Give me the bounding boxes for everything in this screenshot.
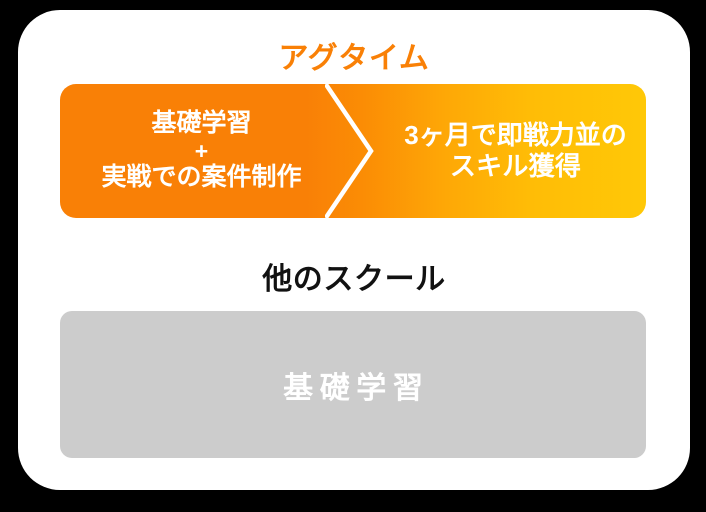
- agtime-banner: 基礎学習 + 実戦での案件制作 3ヶ月で即戦力並の スキル獲得: [60, 84, 646, 218]
- comparison-card: アグタイム 基礎学習 + 実戦での案件制作 3ヶ月で即戦力並の スキル獲得 他の…: [18, 10, 690, 490]
- banner-right-line2: スキル獲得: [450, 151, 581, 182]
- banner-left-line1: 基礎学習: [151, 109, 251, 139]
- banner-right-line1: 3ヶ月で即戦力並の: [404, 120, 626, 151]
- banner-left-line3: 実戦での案件制作: [101, 163, 301, 193]
- brand-heading: アグタイム: [18, 33, 690, 77]
- banner-right-section: 3ヶ月で即戦力並の スキル獲得: [385, 84, 646, 218]
- other-school-heading: 他のスクール: [18, 254, 690, 298]
- screenshot-root: アグタイム 基礎学習 + 実戦での案件制作 3ヶ月で即戦力並の スキル獲得 他の…: [0, 0, 706, 512]
- other-school-box: 基礎学習: [60, 311, 646, 458]
- banner-left-line2: +: [195, 139, 208, 163]
- banner-left-section: 基礎学習 + 実戦での案件制作: [60, 84, 343, 218]
- other-school-box-label: 基礎学習: [277, 363, 430, 407]
